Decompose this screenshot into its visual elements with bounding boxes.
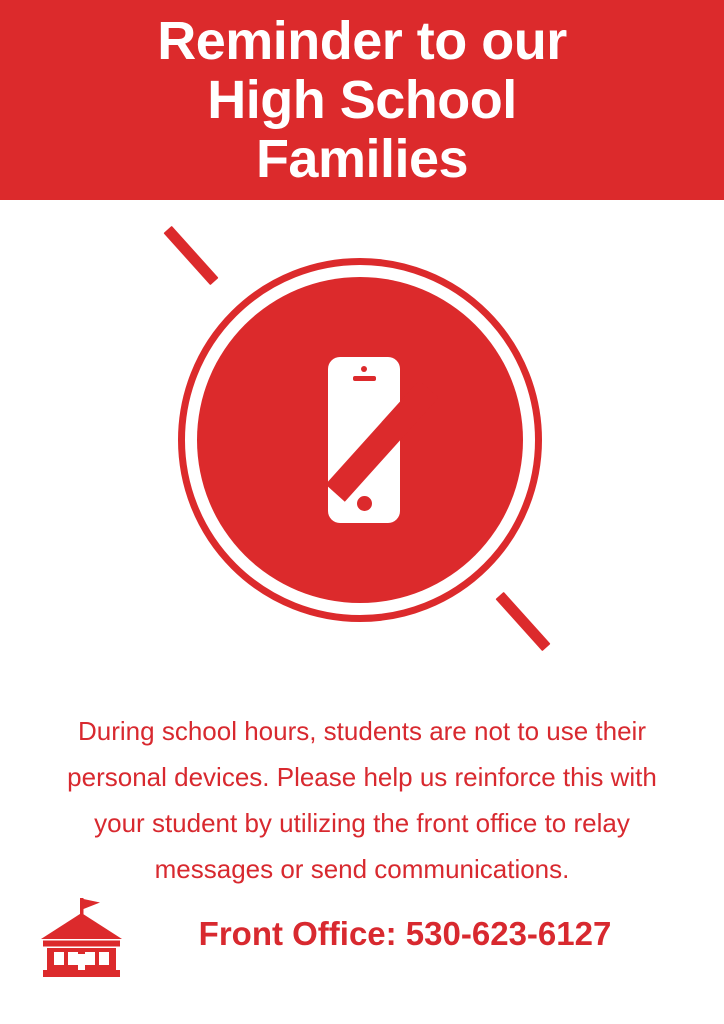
accent-line-top-left-icon (163, 226, 218, 285)
accent-line-bottom-right-icon (495, 592, 550, 651)
phone-speaker-slot-icon (353, 376, 376, 381)
school-building-icon (34, 896, 130, 980)
body-paragraph: During school hours, students are not to… (42, 708, 682, 892)
header-banner: Reminder to our High School Families (0, 0, 724, 200)
no-phone-icon (178, 258, 542, 622)
footer: Front Office: 530-623-6127 (0, 890, 724, 1000)
poster-canvas: Reminder to our High School Families Dur… (0, 0, 724, 1024)
icon-area (0, 200, 724, 660)
front-office-contact: Front Office: 530-623-6127 (170, 912, 640, 956)
smartphone-icon (328, 357, 400, 523)
page-title: Reminder to our High School Families (42, 12, 682, 189)
phone-camera-dot-icon (361, 366, 367, 372)
phone-home-button-icon (357, 496, 372, 511)
